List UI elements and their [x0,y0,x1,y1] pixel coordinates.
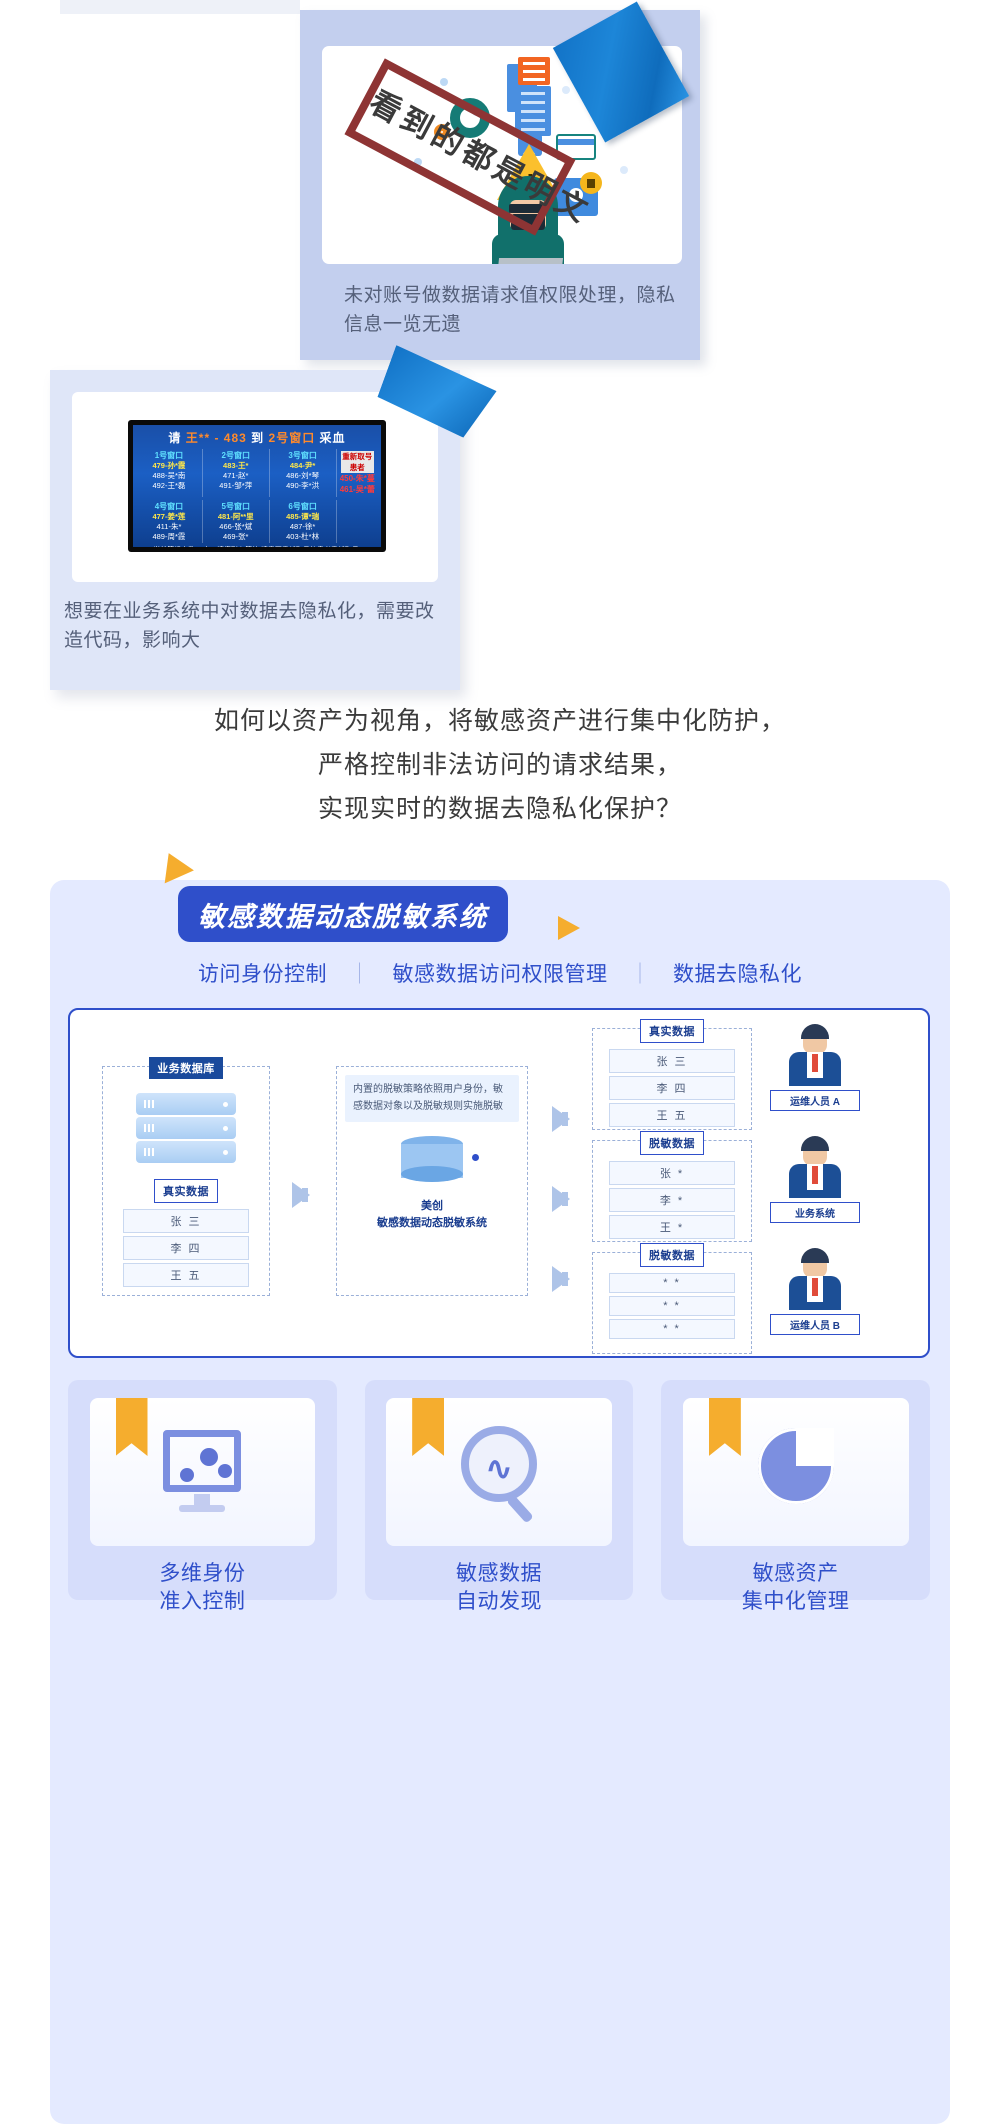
solution-banner: 敏感数据动态脱敏系统 [178,886,508,942]
feature-icon-box [683,1398,909,1546]
output-value: 王 * [609,1215,735,1239]
card2-illustration: 请 王** - 483 到 2号窗口 采血 1号窗口 479-孙*霞 488-吴… [72,392,438,582]
nav-separator: ｜ [349,958,371,988]
source-db-label: 业务数据库 [149,1057,223,1079]
board-headline: 请 王** - 483 到 2号窗口 采血 [133,425,381,446]
source-value: 王 五 [123,1263,249,1287]
blue-document-icon [515,86,551,136]
feature-label-3b: 集中化管理 [661,1588,930,1616]
output-value: 张 * [609,1161,735,1185]
board-column: 2号窗口 483-王* 471-赵* 491-邹*萍 [203,449,270,497]
output-group-2: 脱敏数据 张 * 李 * 王 * [592,1140,752,1242]
source-value: 李 四 [123,1236,249,1260]
feature-label-3a: 敏感资产 [661,1560,930,1588]
consumer-label-3: 运维人员 B [770,1314,860,1335]
board-column: 4号窗口 477-姜*莲 411-朱* 489-周*霞 [136,500,203,543]
consumer-1: 运维人员 A [770,1024,860,1111]
source-database-group: 业务数据库 真实数据 张 三 李 四 王 五 [102,1066,270,1296]
board-requeue-column: 重新取号患者 450-朱*蔓 461-吴*蕾 [337,449,378,497]
board-column: 3号窗口 484-尹* 486-刘*琴 490-李*洪 [270,449,337,497]
infographic-page: ! 看到的都是明文 未对账号做数据请求值权限处理，隐私信息一览无遗 [0,0,1000,2124]
card1-caption: 未对账号做数据请求值权限处理，隐私信息一览无遗 [344,282,686,339]
output-label-2: 脱敏数据 [640,1131,704,1155]
engine-vendor: 美创 [337,1198,527,1215]
masking-engine-group: 内置的脱敏策略依照用户身份，敏感数据对象以及脱敏规则实施脱敏 美创 敏感数据动态… [336,1066,528,1296]
flow-arrow-1 [292,1182,310,1208]
consumer-label-1: 运维人员 A [770,1090,860,1111]
feature-label-2b: 自动发现 [365,1588,634,1616]
feature-icon-box: ∿ [386,1398,612,1546]
corner-decoration [60,0,300,14]
consumer-label-2: 业务系统 [770,1202,860,1223]
board-grid-bottom: 4号窗口 477-姜*莲 411-朱* 489-周*霞 5号窗口 481-阿**… [136,500,378,543]
person-icon [787,1024,843,1086]
problem-card-code-change: 请 王** - 483 到 2号窗口 采血 1号窗口 479-孙*霞 488-吴… [50,370,460,690]
board-footer: 当前等候人数32人，请您耐心等待,请需要重新取号的患者重新取号! [133,545,381,547]
source-data-label: 真实数据 [154,1179,218,1203]
board-requeue-title: 重新取号患者 [341,451,374,473]
board-column: 6号窗口 485-谭*瑞 487-徐* 403-杜*林 [270,500,337,543]
nav-item-access-identity[interactable]: 访问身份控制 [198,958,327,988]
person-icon [787,1248,843,1310]
board-column: 5号窗口 481-阿**里 466-张*斌 469-张* [203,500,270,543]
output-group-3: 脱敏数据 * * * * * * [592,1252,752,1354]
consumer-3: 运维人员 B [770,1248,860,1335]
board-column: 1号窗口 479-孙*霞 488-吴*南 492-王*磊 [136,449,203,497]
question-line-3: 实现实时的数据去隐私化保护？ [0,788,1000,832]
question-line-2: 严格控制非法访问的请求结果， [0,744,1000,788]
engine-name: 敏感数据动态脱敏系统 [337,1215,527,1232]
card2-caption: 想要在业务系统中对数据去隐私化，需要改造代码，影响大 [64,598,448,655]
ribbon-icon [709,1398,741,1456]
feature-icon-box [90,1398,316,1546]
architecture-diagram: 业务数据库 真实数据 张 三 李 四 王 五 [68,1008,930,1358]
ribbon-icon [116,1398,148,1456]
right-arrow-icon [558,916,580,940]
consumer-2: 业务系统 [770,1136,860,1223]
output-label-3: 脱敏数据 [640,1243,704,1267]
flow-arrow-4 [552,1266,570,1292]
output-group-1: 真实数据 张 三 李 四 王 五 [592,1028,752,1130]
feature-label-2a: 敏感数据 [365,1560,634,1588]
database-stack-icon [136,1093,236,1165]
feature-card-asset-mgmt[interactable]: 敏感资产 集中化管理 [661,1380,930,1600]
source-value: 张 三 [123,1209,249,1233]
orange-document-icon [518,57,550,85]
banner-title: 敏感数据动态脱敏系统 [198,895,488,934]
output-value: 李 四 [609,1076,735,1100]
feature-label-1a: 多维身份 [68,1560,337,1588]
left-arrow-icon [154,847,194,884]
output-value: 张 三 [609,1049,735,1073]
board-grid-top: 1号窗口 479-孙*霞 488-吴*南 492-王*磊 2号窗口 483-王*… [136,449,378,497]
person-icon [787,1136,843,1198]
output-value: 王 五 [609,1103,735,1127]
nav-separator-2: ｜ [630,958,652,988]
feature-card-discovery[interactable]: ∿ 敏感数据 自动发现 [365,1380,634,1600]
output-value: * * [609,1319,735,1339]
solution-panel: 敏感数据动态脱敏系统 访问身份控制 ｜ 敏感数据访问权限管理 ｜ 数据去隐私化 … [50,880,950,2124]
hospital-queue-board: 请 王** - 483 到 2号窗口 采血 1号窗口 479-孙*霞 488-吴… [128,420,386,552]
feature-card-identity[interactable]: 多维身份 准入控制 [68,1380,337,1600]
feature-label-1b: 准入控制 [68,1588,337,1616]
board-headline-id: 王** - 483 [186,431,247,445]
question-line-1: 如何以资产为视角，将敏感资产进行集中化防护， [0,700,1000,744]
problem-card-plaintext: ! 看到的都是明文 未对账号做数据请求值权限处理，隐私信息一览无遗 [300,10,700,360]
output-value: 李 * [609,1188,735,1212]
feature-nav-row: 访问身份控制 ｜ 敏感数据访问权限管理 ｜ 数据去隐私化 [50,958,950,988]
board-headline-window: 2号窗口 [269,431,316,445]
masking-engine-icon [401,1136,463,1188]
engine-note: 内置的脱敏策略依照用户身份，敏感数据对象以及脱敏规则实施脱敏 [345,1075,519,1122]
output-value: * * [609,1296,735,1316]
nav-item-permission-mgmt[interactable]: 敏感数据访问权限管理 [393,958,608,988]
nav-item-deprivacy[interactable]: 数据去隐私化 [673,958,802,988]
flow-arrow-2 [552,1106,570,1132]
ribbon-icon [412,1398,444,1456]
flow-arrow-3 [552,1186,570,1212]
unlocked-padlock-icon [580,172,602,194]
feature-card-row: 多维身份 准入控制 ∿ 敏感数据 自动发现 [68,1380,930,1600]
output-value: * * [609,1273,735,1293]
output-label-1: 真实数据 [640,1019,704,1043]
question-block: 如何以资产为视角，将敏感资产进行集中化防护， 严格控制非法访问的请求结果， 实现… [0,700,1000,831]
